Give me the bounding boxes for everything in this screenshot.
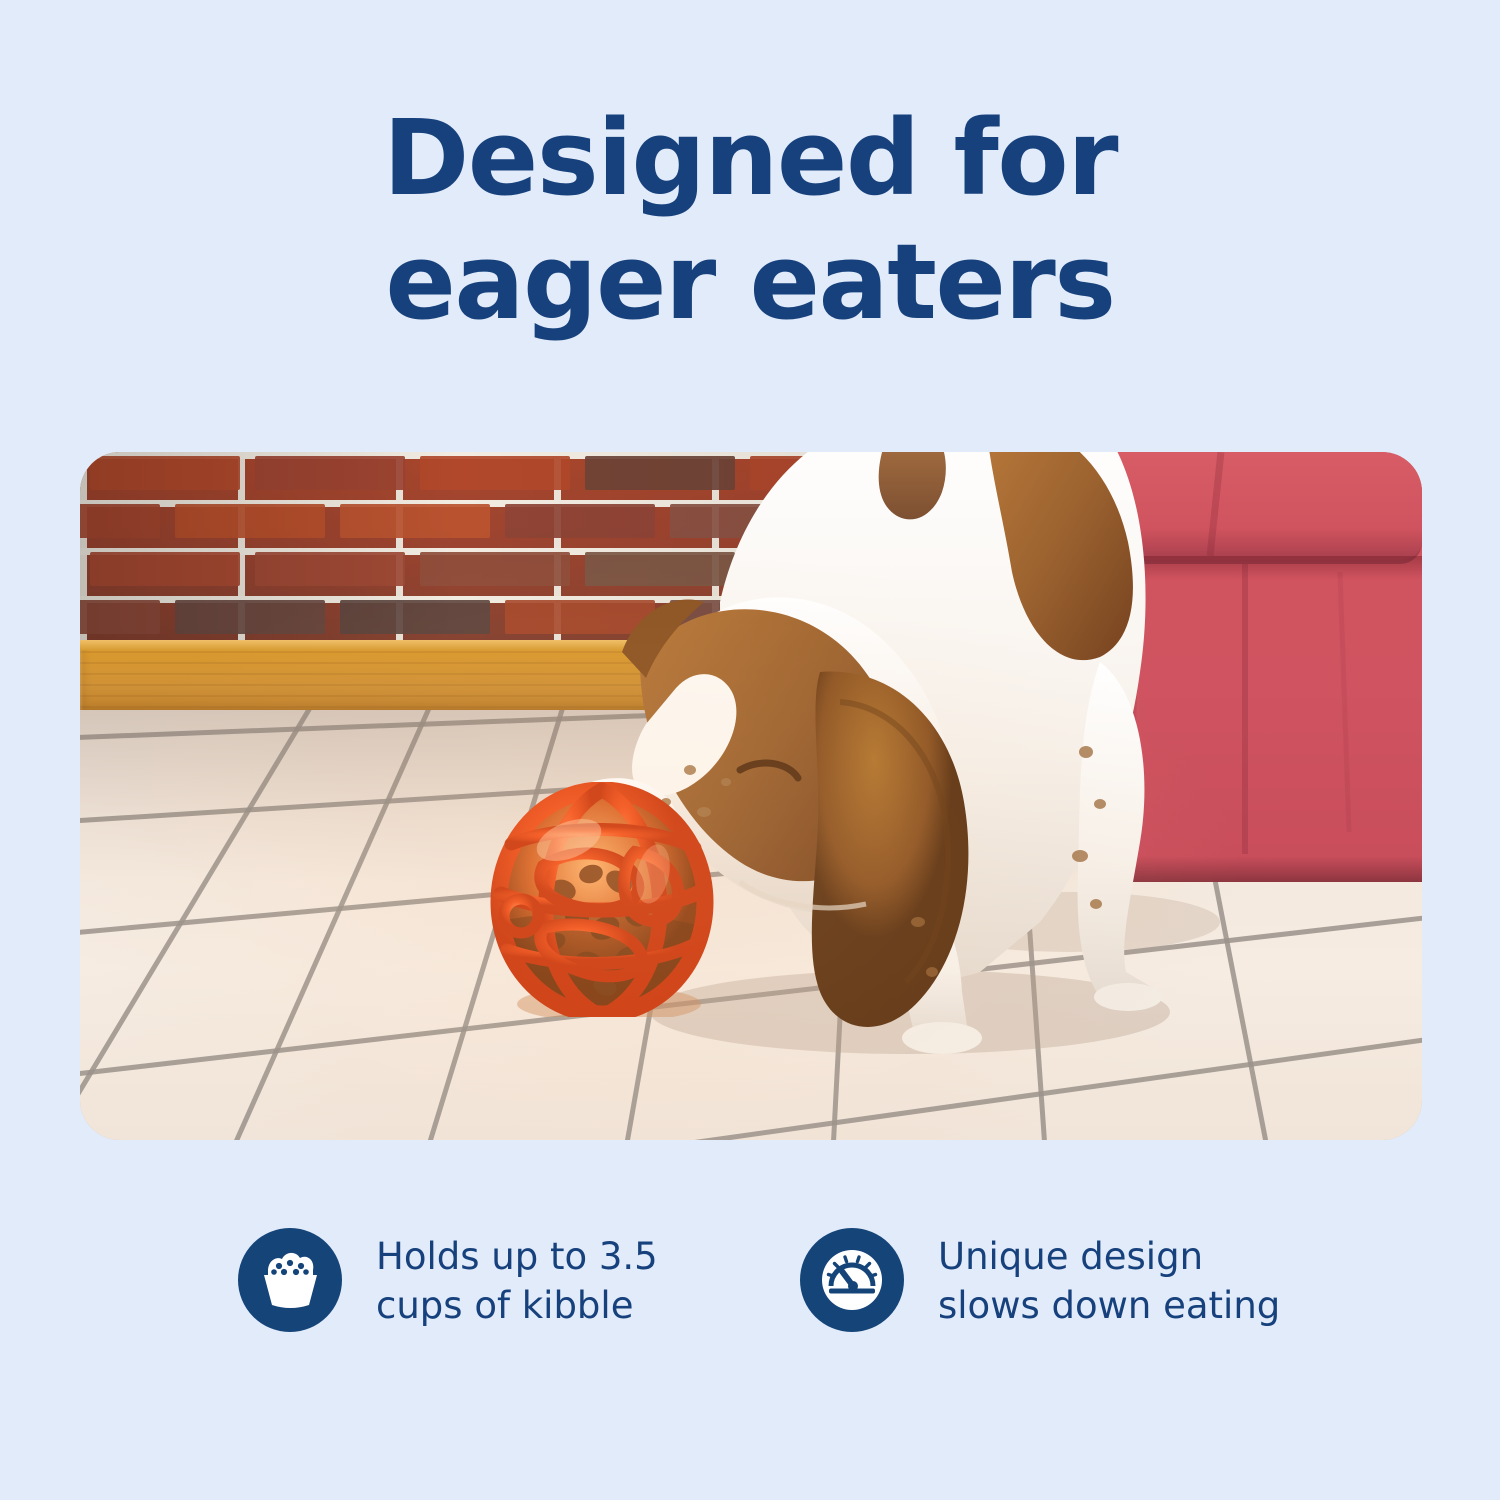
product-lifestyle-photo: [80, 452, 1422, 1140]
feature-label-slow-feed: Unique design slows down eating: [938, 1228, 1280, 1330]
headline-line-1: Designed for: [0, 96, 1500, 220]
feature-item-slow-feed: Unique design slows down eating: [800, 1228, 1280, 1332]
treat-ball-toy: [485, 782, 720, 1017]
dog-illustration: [80, 452, 1422, 1140]
speedometer-icon: [800, 1228, 904, 1332]
feature-list: Holds up to 3.5 cups of kibble: [80, 1228, 1422, 1368]
feature-item-capacity: Holds up to 3.5 cups of kibble: [238, 1228, 658, 1332]
feature-label-capacity: Holds up to 3.5 cups of kibble: [376, 1228, 658, 1330]
page-title: Designed for eager eaters: [0, 96, 1500, 344]
headline-line-2: eager eaters: [0, 220, 1500, 344]
dog-food-bowl-icon: [238, 1228, 342, 1332]
